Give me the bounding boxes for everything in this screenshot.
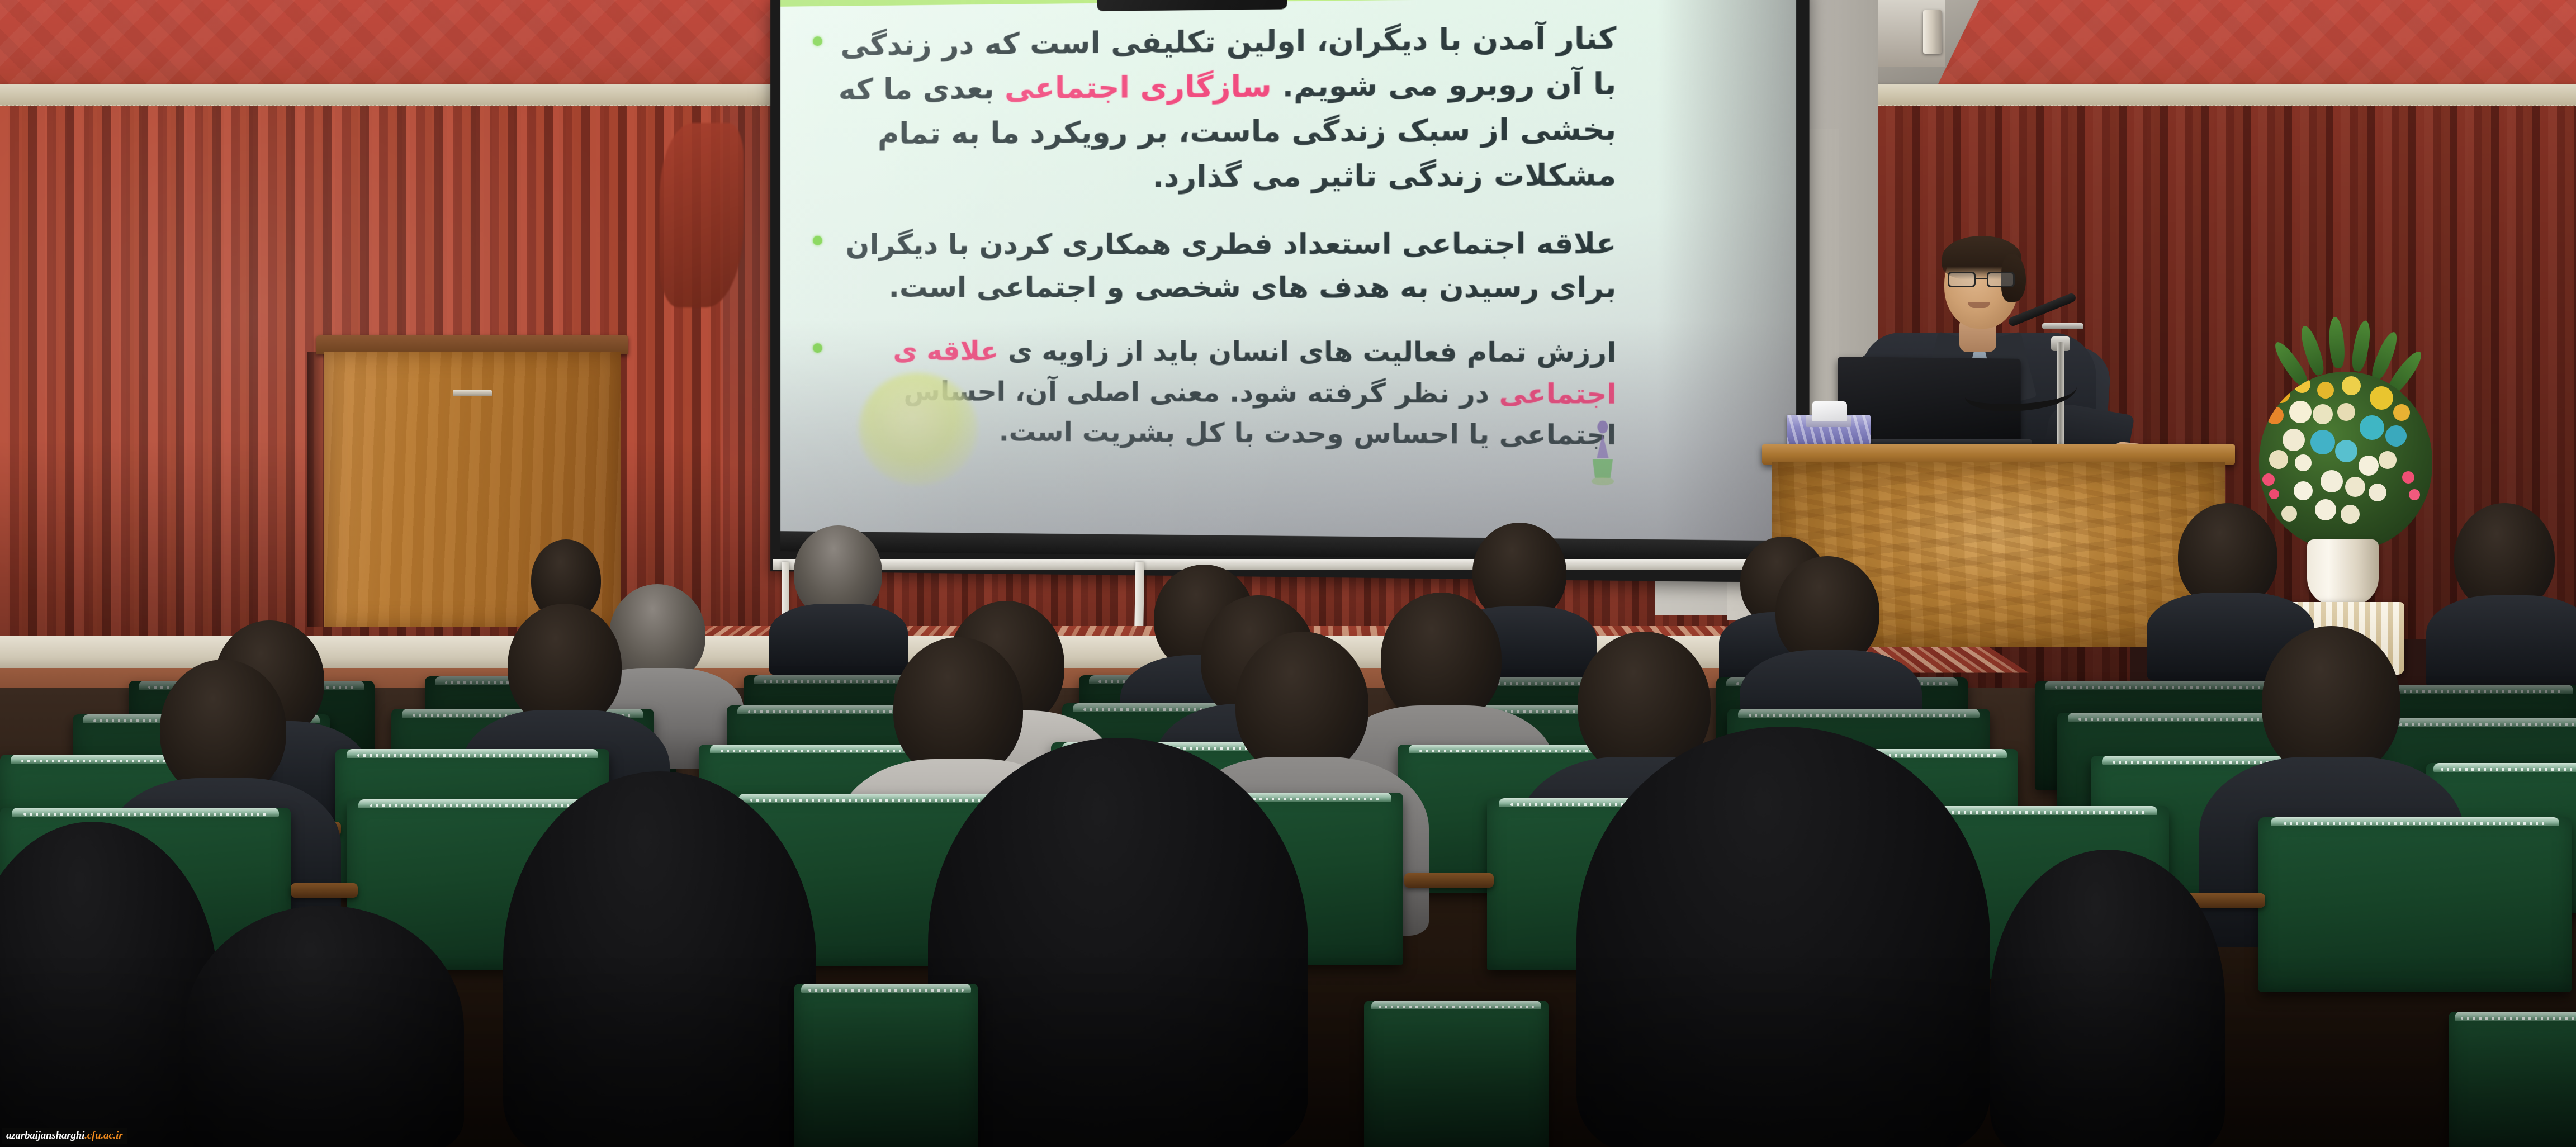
site-watermark: azarbaijansharghi.cfu.ac.ir (2, 1128, 127, 1144)
bullet-3-before: ارزش تمام فعالیت های انسان باید از زاویه… (998, 336, 1616, 369)
bullet-2-text: علاقه اجتماعی استعداد فطری همکاری کردن ب… (827, 222, 1616, 310)
audience-head (508, 604, 622, 728)
bullet-dot-icon (813, 343, 822, 353)
lectern-top (316, 335, 628, 354)
audience-member-chador (503, 771, 816, 1147)
watermark-domain-suffix: .cfu.ac.ir (84, 1130, 122, 1141)
chador-silhouette (184, 906, 464, 1147)
seat[interactable] (1364, 1001, 1549, 1147)
slide-decorative-circle (859, 373, 977, 486)
armrest (1404, 873, 1494, 888)
slide-top-accent-band (780, 0, 1796, 7)
presenter-mouth (1968, 302, 1990, 308)
slide-bullet-1: کنار آمدن با دیگران، اولین تکلیفی است که… (804, 16, 1616, 201)
watermark-site-name: azarbaijansharghi (6, 1130, 84, 1141)
microphone-crossbar (2042, 323, 2083, 329)
seat[interactable] (794, 984, 978, 1147)
microphone (2026, 306, 2099, 457)
audience-member-chador (184, 906, 464, 1147)
tissue-sheet (1812, 401, 1847, 421)
chador-silhouette (503, 771, 816, 1147)
seat[interactable] (2258, 817, 2572, 992)
eyeglass-bridge (1976, 278, 1988, 279)
ceiling-light-fixture (1923, 10, 1942, 54)
projection-screen-surface: کنار آمدن با دیگران، اولین تکلیفی است که… (780, 0, 1796, 562)
audience-member (1755, 556, 1906, 713)
auditorium-presentation-photo: کنار آمدن با دیگران، اولین تکلیفی است که… (0, 0, 2576, 1147)
projector-shadow (1097, 0, 1287, 11)
desk-top-surface (1762, 444, 2235, 465)
chador-silhouette (1990, 850, 2225, 1147)
bullet-dot-icon (813, 36, 822, 46)
audience-member-chador (1990, 850, 2225, 1147)
eyeglasses-icon (1947, 272, 2017, 288)
audience-body (2426, 595, 2576, 690)
audience-head (2262, 626, 2400, 778)
audience-member (2163, 503, 2303, 637)
audience-member (2437, 503, 2576, 643)
bullet-1-highlight: سازگاری اجتماعی (1005, 70, 1272, 106)
bullet-2-before: علاقه اجتماعی استعداد فطری همکاری کردن ب… (845, 227, 1616, 304)
projection-screen: کنار آمدن با دیگران، اولین تکلیفی است که… (770, 0, 1810, 583)
audience-member-chador (1576, 727, 1990, 1147)
chador-silhouette (928, 738, 1308, 1147)
chador-silhouette (1576, 727, 1990, 1147)
tissue-box (1787, 401, 1871, 445)
audience-member (783, 525, 900, 637)
audience-member-chador (928, 738, 1308, 1147)
slide-bullet-2: علاقه اجتماعی استعداد فطری همکاری کردن ب… (804, 222, 1616, 310)
flower-vase (2307, 539, 2379, 606)
seat[interactable] (2449, 1012, 2576, 1147)
audience-head (160, 660, 286, 798)
bullet-1-text: کنار آمدن با دیگران، اولین تکلیفی است که… (827, 16, 1616, 201)
eyeglass-lens-right (1987, 272, 2015, 287)
curtain-swag-fold (660, 123, 744, 307)
screen-bottom-frame (780, 531, 1796, 562)
lectern-nameplate (453, 390, 492, 396)
slide-figure-graphic (1589, 418, 1616, 487)
eyeglass-lens-left (1948, 272, 1976, 287)
armrest (291, 883, 358, 898)
bullet-dot-icon (813, 236, 822, 245)
